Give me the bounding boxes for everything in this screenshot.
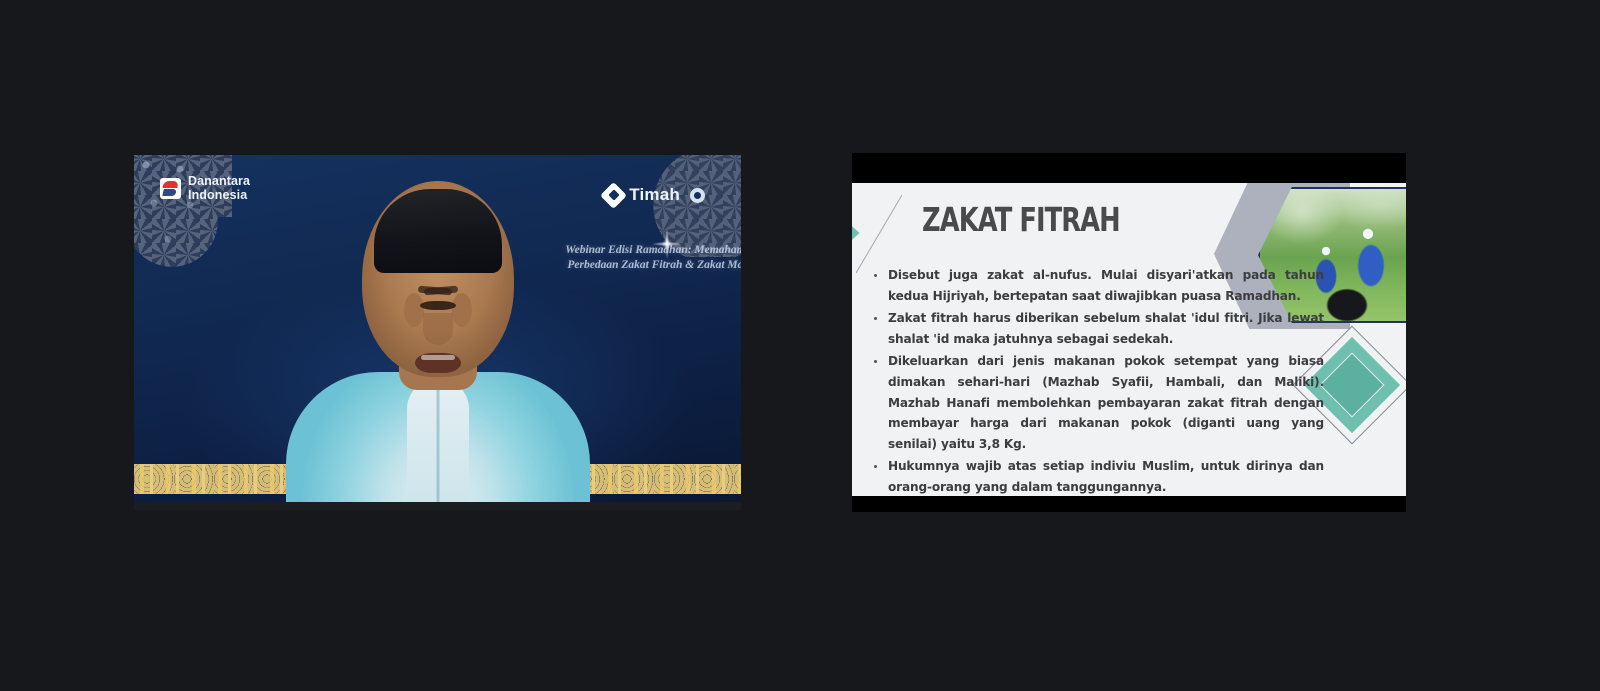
webinar-caption: Webinar Edisi Ramadhan: Memahami Perbeda… bbox=[564, 243, 741, 273]
shared-slide-tile[interactable]: ZAKAT FITRAH Disebut juga zakat al-nufus… bbox=[852, 153, 1406, 512]
timah-brand: Timah bbox=[604, 185, 705, 205]
presenter-figure bbox=[312, 155, 564, 502]
danantara-line-2: Indonesia bbox=[188, 188, 247, 202]
list-item: Zakat fitrah harus diberikan sebelum sha… bbox=[872, 308, 1324, 349]
presenter-brow-right bbox=[417, 286, 451, 296]
danantara-line-1: Danantara bbox=[188, 174, 250, 188]
circle-dot-icon bbox=[690, 188, 705, 203]
screen-root: Danantara Indonesia Timah Webinar Edisi … bbox=[0, 0, 1600, 691]
presenter-attire bbox=[286, 372, 590, 502]
list-item: Hukumnya wajib atas setiap indiviu Musli… bbox=[872, 456, 1324, 496]
mosque-arch-pattern-icon bbox=[134, 155, 232, 273]
presenter-ear-right bbox=[452, 293, 472, 327]
presenter-ear-left bbox=[404, 293, 424, 327]
slide-title: ZAKAT FITRAH bbox=[922, 203, 1120, 237]
slide-canvas: ZAKAT FITRAH Disebut juga zakat al-nufus… bbox=[852, 183, 1406, 496]
black-peci-cap bbox=[374, 189, 502, 273]
presenter-head bbox=[362, 181, 514, 377]
presenter-eye-right bbox=[420, 301, 450, 310]
danantara-brand-label: Danantara Indonesia bbox=[188, 175, 250, 202]
video-feed: Danantara Indonesia Timah Webinar Edisi … bbox=[134, 155, 741, 502]
webinar-video-tile[interactable]: Danantara Indonesia Timah Webinar Edisi … bbox=[134, 155, 741, 510]
presenter-mouth bbox=[415, 353, 461, 373]
presenter-nose bbox=[423, 313, 453, 345]
timah-brand-label: Timah bbox=[629, 185, 680, 205]
list-item: Disebut juga zakat al-nufus. Mulai disya… bbox=[872, 265, 1324, 306]
danantara-logo-mark-icon bbox=[160, 178, 181, 199]
chevron-outline-icon bbox=[856, 195, 902, 273]
danantara-brand: Danantara Indonesia bbox=[160, 175, 250, 202]
slide-bullet-list: Disebut juga zakat al-nufus. Mulai disya… bbox=[872, 265, 1324, 496]
list-item: Dikeluarkan dari jenis makanan pokok set… bbox=[872, 351, 1324, 454]
video-bottom-strip bbox=[134, 502, 741, 510]
timah-diamond-logo-icon bbox=[604, 186, 623, 205]
